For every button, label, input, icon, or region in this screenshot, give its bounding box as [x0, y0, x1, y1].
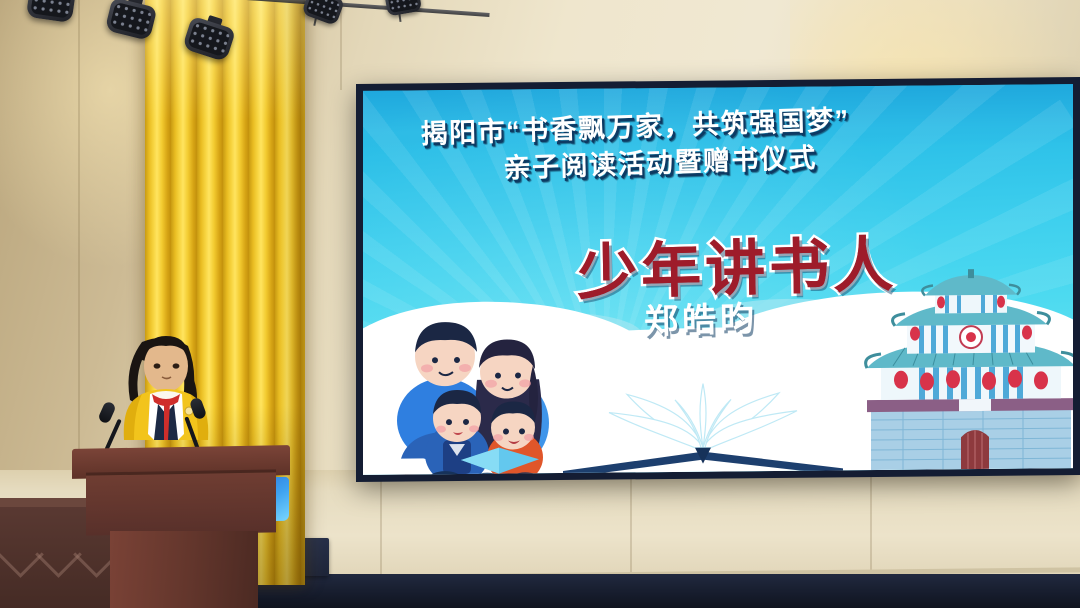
- mic-head: [97, 400, 117, 424]
- podium-front-panel: [86, 472, 276, 535]
- wall-seam: [380, 470, 382, 590]
- mic-head: [189, 397, 207, 421]
- screenshot-root: 揭阳市“书香飘万家，共筑强国梦”亲子阅读活动暨赠书仪式 少年讲书人 少年讲书人 …: [0, 0, 1080, 608]
- open-book-svg: [553, 376, 853, 475]
- led-display-screen[interactable]: 揭阳市“书香飘万家，共筑强国梦”亲子阅读活动暨赠书仪式 少年讲书人 少年讲书人 …: [363, 84, 1073, 475]
- speaker-podium: [72, 447, 290, 608]
- light-lens: [30, 0, 71, 19]
- light-lens: [109, 2, 152, 36]
- light-lens: [387, 0, 418, 13]
- family-svg: [391, 307, 571, 475]
- led-display-frame: 揭阳市“书香飘万家，共筑强国梦”亲子阅读活动暨赠书仪式 少年讲书人 少年讲书人 …: [356, 77, 1080, 482]
- light-lens: [187, 21, 231, 57]
- microphone-right: [168, 398, 214, 452]
- microphone-left: [95, 400, 141, 452]
- slide-presenter-name: 郑皓昀: [644, 291, 759, 343]
- mic-stem: [184, 416, 199, 449]
- podium-column: [110, 531, 258, 608]
- family-reading-illustration: [391, 307, 571, 474]
- wall-seam: [340, 0, 342, 90]
- open-book-illustration: [553, 376, 853, 475]
